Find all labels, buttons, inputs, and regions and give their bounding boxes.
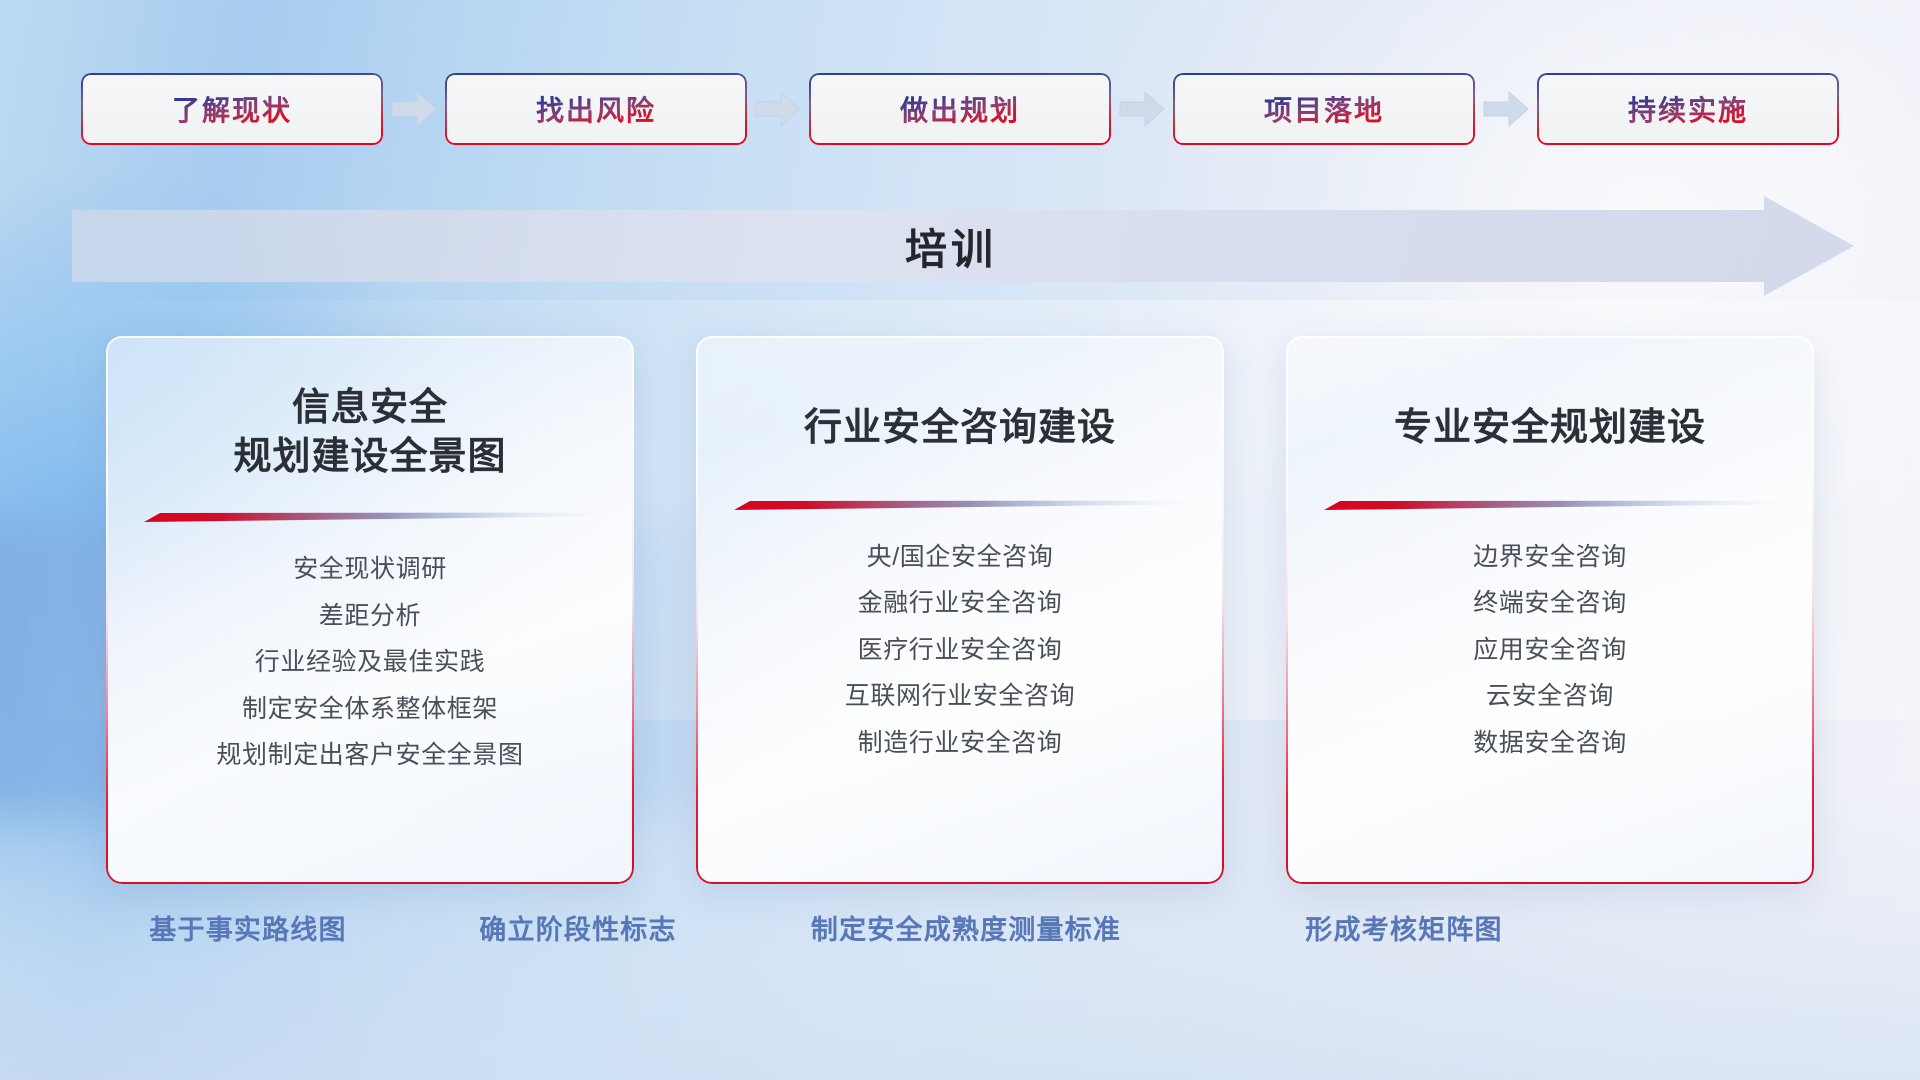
service-card-3-list: 边界安全咨询 终端安全咨询 应用安全咨询 云安全咨询 数据安全咨询 <box>1473 541 1627 760</box>
list-item: 医疗行业安全咨询 <box>858 634 1063 667</box>
list-item: 云安全咨询 <box>1486 680 1614 713</box>
step-box-2[interactable]: 找出风险 <box>445 73 747 145</box>
arrow-right-icon <box>755 86 801 132</box>
list-item: 互联网行业安全咨询 <box>845 680 1075 713</box>
list-item: 差距分析 <box>319 600 421 633</box>
training-banner: 培训 <box>72 196 1854 296</box>
service-card-2-list: 央/国企安全咨询 金融行业安全咨询 医疗行业安全咨询 互联网行业安全咨询 制造行… <box>845 541 1075 760</box>
list-item: 数据安全咨询 <box>1473 727 1627 760</box>
service-card-2[interactable]: 行业安全咨询建设 <box>696 336 1224 884</box>
service-card-2-body: 行业安全咨询建设 <box>696 336 1224 884</box>
list-item: 应用安全咨询 <box>1473 634 1627 667</box>
list-item: 规划制定出客户安全全景图 <box>216 739 523 772</box>
step-label-5: 持续实施 <box>1628 89 1748 129</box>
service-card-1-title: 信息安全 规划建设全景图 <box>233 384 506 481</box>
step-box-5[interactable]: 持续实施 <box>1537 73 1839 145</box>
list-item: 安全现状调研 <box>293 553 447 586</box>
service-card-2-title: 行业安全咨询建设 <box>804 404 1116 453</box>
service-card-3-title: 专业安全规划建设 <box>1394 404 1706 453</box>
arrow-right-icon <box>1483 86 1529 132</box>
list-item: 行业经验及最佳实践 <box>255 646 485 679</box>
footer-label-1: 基于事实路线图 <box>149 908 346 947</box>
list-item: 央/国企安全咨询 <box>867 541 1054 574</box>
footer-label-2: 确立阶段性标志 <box>479 908 676 947</box>
footer-label-group: 基于事实路线图 确立阶段性标志 制定安全成熟度测量标准 形成考核矩阵图 <box>0 908 1920 968</box>
service-card-1-body: 信息安全 规划建设全景图 <box>106 336 634 884</box>
step-label-3: 做出规划 <box>900 89 1020 129</box>
footer-label-3: 制定安全成熟度测量标准 <box>811 908 1121 947</box>
step-label-1: 了解现状 <box>172 89 292 129</box>
list-item: 制造行业安全咨询 <box>858 727 1063 760</box>
service-card-3[interactable]: 专业安全规划建设 <box>1286 336 1814 884</box>
arrow-right-icon <box>391 86 437 132</box>
footer-label-4: 形成考核矩阵图 <box>1305 908 1502 947</box>
step-label-4: 项目落地 <box>1264 89 1384 129</box>
list-item: 边界安全咨询 <box>1473 541 1627 574</box>
step-box-3[interactable]: 做出规划 <box>809 73 1111 145</box>
gradient-divider-icon <box>734 499 1186 513</box>
service-card-1[interactable]: 信息安全 规划建设全景图 <box>106 336 634 884</box>
list-item: 制定安全体系整体框架 <box>242 693 498 726</box>
step-box-4[interactable]: 项目落地 <box>1173 73 1475 145</box>
service-card-3-body: 专业安全规划建设 <box>1286 336 1814 884</box>
list-item: 金融行业安全咨询 <box>858 587 1063 620</box>
step-box-1[interactable]: 了解现状 <box>81 73 383 145</box>
arrow-right-icon <box>1119 86 1165 132</box>
process-step-flow: 了解现状 找出风险 做出规划 项目落地 持续实施 <box>0 70 1920 148</box>
step-label-2: 找出风险 <box>536 89 656 129</box>
list-item: 终端安全咨询 <box>1473 587 1627 620</box>
training-banner-label: 培训 <box>72 196 1854 296</box>
gradient-divider-icon <box>144 511 596 525</box>
gradient-divider-icon <box>1324 499 1776 513</box>
service-card-group: 信息安全 规划建设全景图 <box>0 336 1920 884</box>
service-card-1-list: 安全现状调研 差距分析 行业经验及最佳实践 制定安全体系整体框架 规划制定出客户… <box>216 553 523 772</box>
